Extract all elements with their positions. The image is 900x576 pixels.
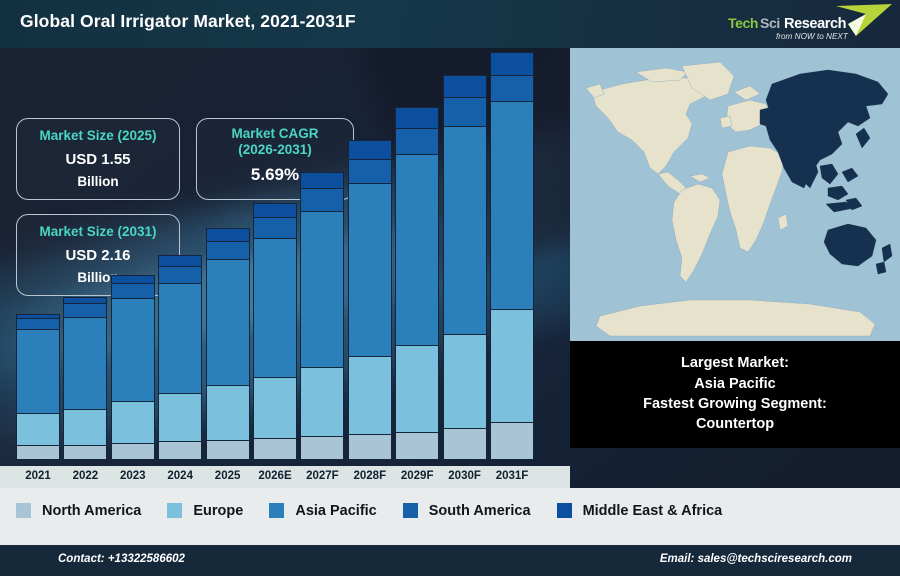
bar-segment [111,298,155,401]
bar-segment [300,436,344,460]
bar-segment [63,445,107,460]
bar-segment [253,377,297,438]
footer-bar: Contact: +13322586602 Email: sales@techs… [0,545,900,576]
bar-segment [443,428,487,460]
bar-segment [253,238,297,377]
legend-item[interactable]: North America [16,503,141,519]
svg-text:Tech: Tech [728,15,758,31]
bar-segment [490,52,534,75]
header-bar: Global Oral Irrigator Market, 2021-2031F… [0,0,900,48]
legend-swatch-icon [16,503,31,518]
bar-segment [158,393,202,441]
bar-column [348,140,392,460]
world-map [570,48,900,341]
bar-segment [16,329,60,413]
bar-segment [443,334,487,428]
bar-segment [395,154,439,345]
bar-column [63,297,107,460]
market-callout: Largest Market: Asia Pacific Fastest Gro… [570,341,900,448]
bar-column [253,203,297,460]
bar-segment [490,422,534,460]
bar-segment [111,283,155,299]
bar-column [490,52,534,460]
bar-segment [395,345,439,431]
bar-column [111,275,155,460]
bar-segment [63,303,107,317]
legend-swatch-icon [167,503,182,518]
bar-segment [206,385,250,440]
bar-segment [300,367,344,435]
bar-segment [253,203,297,217]
bar-column [395,107,439,460]
legend-swatch-icon [403,503,418,518]
bar-segment [443,126,487,334]
bar-segment [348,356,392,433]
infographic-root: Global Oral Irrigator Market, 2021-2031F… [0,0,900,576]
bar-segment [16,413,60,445]
legend-item[interactable]: Middle East & Africa [557,503,723,519]
bar-segment [206,241,250,260]
footer-contact: Contact: +13322586602 [58,553,185,565]
bar-segment [443,75,487,97]
bar-column [300,172,344,460]
bar-segment [206,440,250,460]
bar-segment [63,409,107,445]
bar-segment [111,443,155,460]
bar-segment [395,107,439,127]
bar-segment [206,228,250,241]
callout-largest-market-value: Asia Pacific [578,375,892,394]
legend-item[interactable]: South America [403,503,531,519]
bar-column [443,75,487,460]
footer-email: Email: sales@techsciresearch.com [660,553,852,565]
techsci-research-logo: Tech Sci Research from NOW to NEXT [716,2,894,46]
stacked-bar-chart: 202120222023202420252026E2027F2028F2029F… [0,48,570,488]
x-axis-tick-label: 2031F [482,470,542,482]
bar-segment [443,97,487,125]
bar-segment [16,445,60,460]
bar-segment [158,255,202,266]
bar-segment [253,217,297,238]
bar-segment [158,441,202,460]
callout-fastest-segment-value: Countertop [578,415,892,434]
callout-fastest-segment-label: Fastest Growing Segment: [578,395,892,414]
bar-column [158,255,202,460]
bar-segment [395,432,439,460]
bar-segment [300,211,344,367]
legend-label: North America [42,503,141,519]
bar-segment [348,183,392,356]
legend-swatch-icon [557,503,572,518]
bar-segment [158,283,202,393]
bar-segment [158,266,202,283]
bar-segment [300,172,344,188]
page-title: Global Oral Irrigator Market, 2021-2031F [20,11,356,32]
chart-legend: North AmericaEuropeAsia PacificSouth Ame… [0,488,900,533]
bar-segment [300,188,344,211]
svg-text:Sci: Sci [760,15,780,31]
bar-segment [490,75,534,101]
legend-swatch-icon [269,503,284,518]
legend-label: South America [429,503,531,519]
bar-segment [206,259,250,385]
bar-segment [348,159,392,184]
svg-text:Research: Research [784,16,846,32]
bar-segment [111,401,155,443]
bar-segment [348,140,392,158]
bar-segment [490,101,534,308]
bar-segment [490,309,534,422]
legend-label: Asia Pacific [295,503,376,519]
legend-item[interactable]: Asia Pacific [269,503,376,519]
bar-segment [253,438,297,460]
x-axis: 202120222023202420252026E2027F2028F2029F… [0,460,570,488]
bar-segment [348,434,392,460]
bars-layer [0,68,570,460]
bar-segment [111,275,155,283]
legend-label: Middle East & Africa [583,503,723,519]
bar-segment [395,128,439,154]
svg-text:from NOW to NEXT: from NOW to NEXT [776,32,849,41]
callout-largest-market-label: Largest Market: [578,354,892,373]
bar-column [16,314,60,460]
legend-label: Europe [193,503,243,519]
bar-segment [63,317,107,409]
bar-segment [16,318,60,328]
bar-column [206,228,250,460]
legend-item[interactable]: Europe [167,503,243,519]
